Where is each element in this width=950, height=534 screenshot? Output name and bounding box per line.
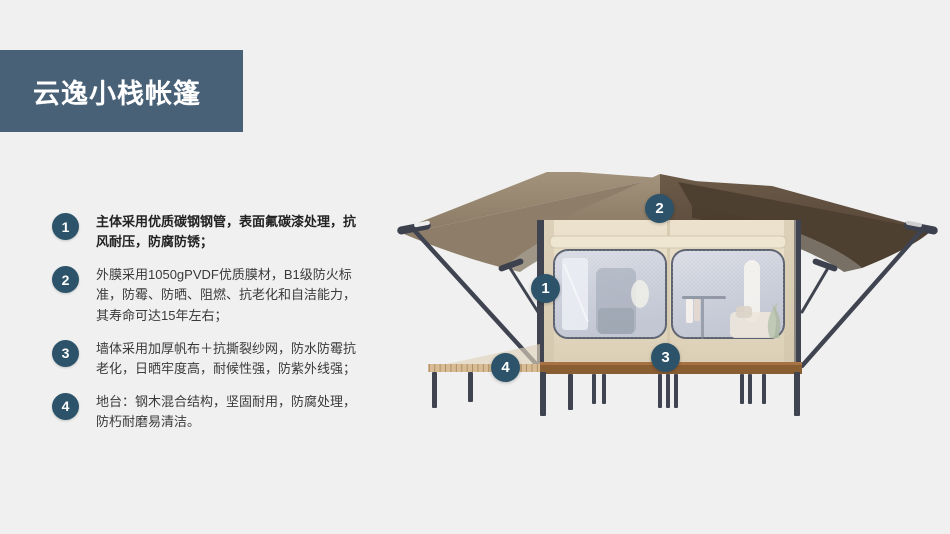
window-valance: [550, 236, 786, 248]
feature-badge-1: 1: [52, 213, 79, 240]
feature-text-1: 主体采用优质碳钢钢管，表面氟碳漆处理，抗风耐压，防腐防锈；: [96, 212, 362, 252]
feature-badge-4: 4: [52, 393, 79, 420]
feature-item-4: 4 地台：钢木混合结构，坚固耐用，防腐处理，防朽耐磨易清洁。: [52, 392, 362, 432]
feature-item-1: 1 主体采用优质碳钢钢管，表面氟碳漆处理，抗风耐压，防腐防锈；: [52, 212, 362, 252]
callout-badge-1: 1: [531, 274, 560, 303]
callout-badge-4: 4: [491, 353, 520, 382]
feature-item-2: 2 外膜采用1050gPVDF优质膜材，B1级防火标准，防霉、防晒、阻燃、抗老化…: [52, 265, 362, 325]
window-left: [554, 250, 666, 338]
feature-item-3: 3 墙体采用加厚帆布＋抗撕裂纱网，防水防霉抗老化，日晒牢度高，耐候性强，防紫外线…: [52, 339, 362, 379]
callout-badge-2: 2: [645, 194, 674, 223]
feature-list: 1 主体采用优质碳钢钢管，表面氟碳漆处理，抗风耐压，防腐防锈； 2 外膜采用10…: [52, 212, 362, 445]
feature-text-2: 外膜采用1050gPVDF优质膜材，B1级防火标准，防霉、防晒、阻燃、抗老化和自…: [96, 265, 362, 325]
deck-slats-side: [428, 364, 540, 372]
deck-support-legs: [432, 372, 800, 416]
feature-badge-2: 2: [52, 266, 79, 293]
feature-text-3: 墙体采用加厚帆布＋抗撕裂纱网，防水防霉抗老化，日晒牢度高，耐候性强，防紫外线强；: [96, 339, 362, 379]
feature-text-4: 地台：钢木混合结构，坚固耐用，防腐处理，防朽耐磨易清洁。: [96, 392, 362, 432]
brace-right-inner: [802, 268, 828, 312]
feature-badge-3: 3: [52, 340, 79, 367]
window-right: [672, 250, 784, 339]
callout-badge-3: 3: [651, 343, 680, 372]
tent-illustration: 1 2 3 4: [392, 172, 944, 428]
page-title: 云逸小栈帐篷: [0, 72, 201, 111]
page-title-banner: 云逸小栈帐篷: [0, 50, 243, 132]
